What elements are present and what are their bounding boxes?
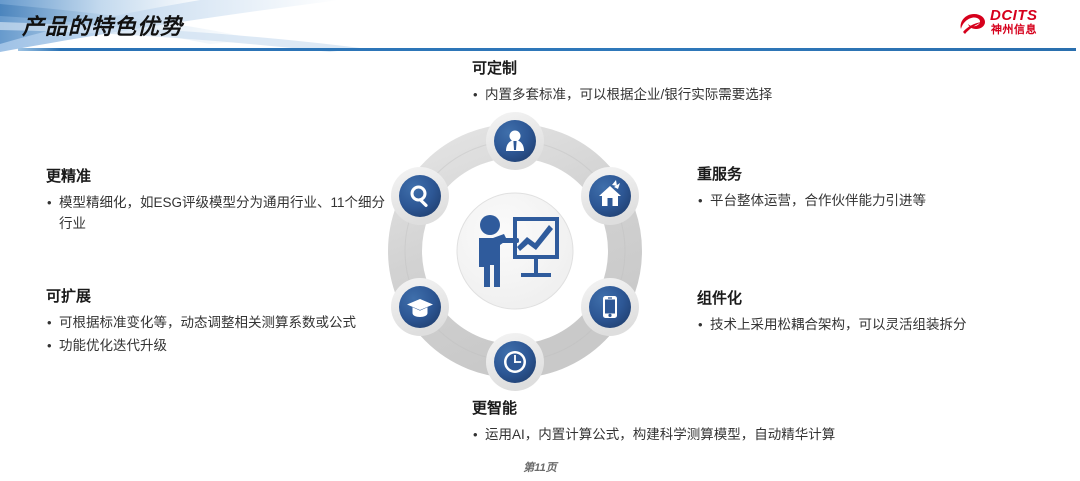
wheel-node-clock[interactable] [486,333,544,391]
feature-title: 组件化 [697,290,1037,308]
slide-canvas: 产品的特色优势 DCITS 神州信息 可定制 内置多套标准，可以根据企业/银行实… [0,0,1080,481]
feature-title: 更精准 [46,168,386,186]
wheel-node-search[interactable] [391,167,449,225]
wheel-node-user[interactable] [486,112,544,170]
feature-bullet: 内置多套标准，可以根据企业/银行实际需要选择 [472,84,892,105]
clock-icon [504,351,526,373]
wheel-node-home[interactable] [581,167,639,225]
wheel-node-education[interactable] [391,278,449,336]
page-number: 第11页 [523,459,556,475]
feature-title: 可定制 [472,60,892,78]
feature-bullet: 模型精细化，如ESG评级模型分为通用行业、11个细分行业 [46,192,386,234]
feature-title: 可扩展 [46,288,386,306]
mobile-phone-icon [603,296,617,318]
feature-bullet: 技术上采用松耦合架构，可以灵活组装拆分 [697,314,1037,335]
feature-block-componentized: 组件化 技术上采用松耦合架构，可以灵活组装拆分 [697,290,1037,337]
feature-block-intelligent: 更智能 运用AI，内置计算公式，构建科学测算模型，自动精华计算 [472,400,952,447]
slide-header: 产品的特色优势 DCITS 神州信息 [0,0,1080,52]
slide-footer: 第11页 [0,459,1080,475]
brand-logo: DCITS 神州信息 [958,8,1066,40]
header-divider [18,48,1076,51]
feature-bullet: 可根据标准变化等，动态调整相关测算系数或公式 [46,312,386,333]
feature-title: 重服务 [697,166,1027,184]
logo-subtext: 神州信息 [991,24,1037,37]
feature-block-accurate: 更精准 模型精细化，如ESG评级模型分为通用行业、11个细分行业 [46,168,386,236]
wheel-node-mobile[interactable] [581,278,639,336]
feature-block-extensible: 可扩展 可根据标准变化等，动态调整相关测算系数或公式 功能优化迭代升级 [46,288,386,358]
feature-bullet: 运用AI，内置计算公式，构建科学测算模型，自动精华计算 [472,424,952,445]
dcits-swirl-icon [958,10,986,36]
feature-bullet: 平台整体运营，合作伙伴能力引进等 [697,190,1027,211]
logo-wordmark: DCITS [990,8,1038,24]
page-title: 产品的特色优势 [22,9,183,41]
feature-block-customizable: 可定制 内置多套标准，可以根据企业/银行实际需要选择 [472,60,892,107]
feature-wheel-diagram [378,108,652,394]
feature-block-service: 重服务 平台整体运营，合作伙伴能力引进等 [697,166,1027,213]
feature-bullet: 功能优化迭代升级 [46,335,386,356]
feature-title: 更智能 [472,400,952,418]
